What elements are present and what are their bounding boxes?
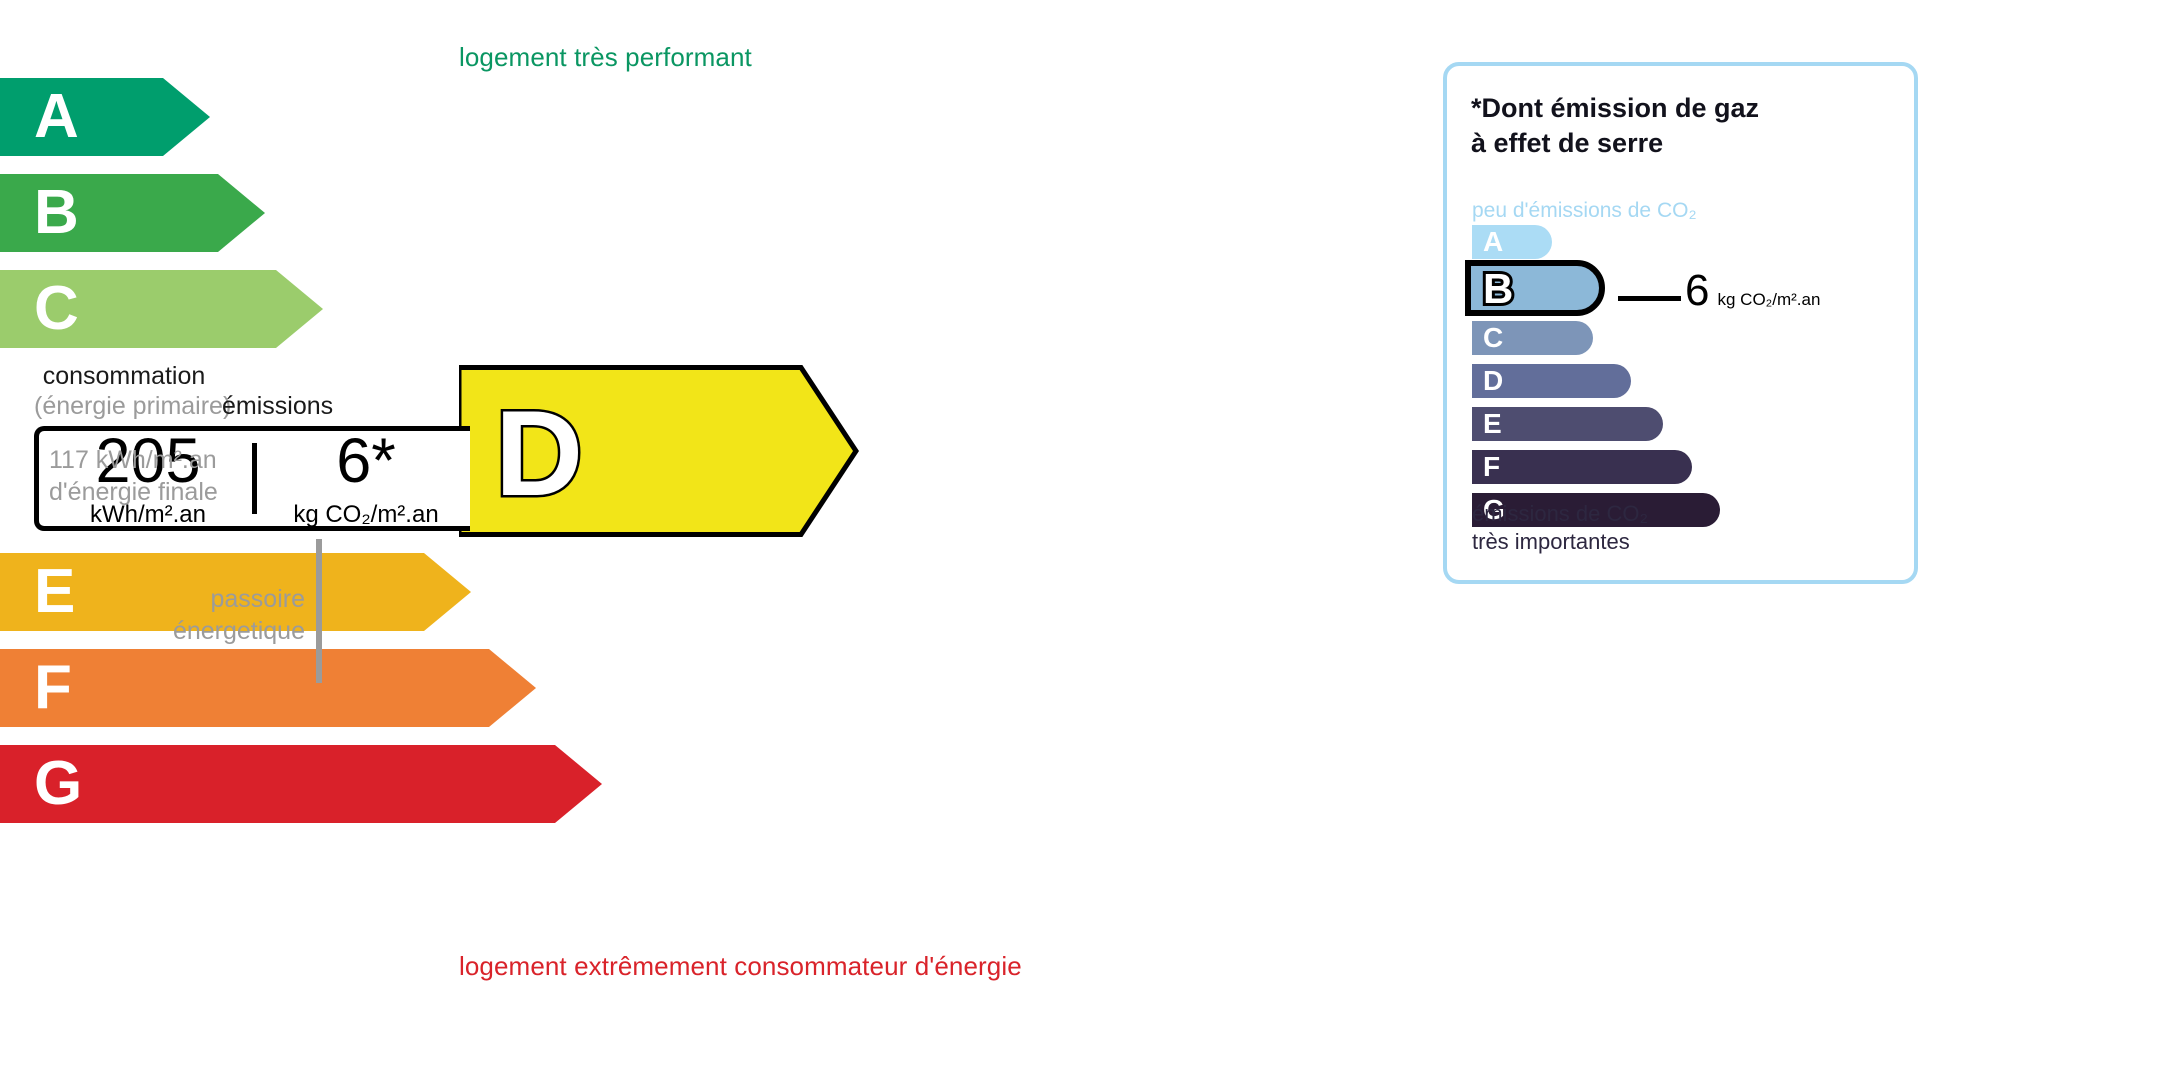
energy-bar-f-tip [489,649,536,727]
passoire-label: passoire énergetique [150,583,305,647]
emission-unit: kg CO₂/m².an [293,503,438,527]
energy-grade-letter-b: B [34,182,79,244]
co2-grade-letter-f: F [1483,453,1500,481]
passoire-line2: énergetique [173,617,305,645]
emission-value-cell: 6* kg CO₂/m².an [257,431,475,526]
co2-grade-letter-a: A [1483,228,1503,256]
energy-performance-panel: logement très performant A B C [0,0,1420,1079]
co2-bar-c: C [1472,321,1593,355]
energy-bar-b-tip [218,174,265,252]
energy-bar-a-body [0,78,163,156]
co2-bar-d: D [1472,364,1631,398]
co2-grade-letter-e: E [1483,410,1502,438]
co2-value-unit: kg CO₂/m².an [1717,291,1820,308]
energy-bar-f-body [0,649,489,727]
co2-bottom-caption-line1: émissions de CO₂ [1472,501,1648,526]
co2-value-callout: 6 kg CO₂/m².an [1685,269,1820,313]
value-box-divider [252,443,257,514]
energy-bar-d-selected: D [459,365,859,537]
energy-bar-c-tip [276,270,323,348]
energy-grade-letter-a: A [34,86,79,148]
co2-bar-f: F [1472,450,1692,484]
consumption-header-line2: (énergie primaire) [34,392,214,422]
dpe-diagram: logement très performant A B C [0,0,2170,1079]
emissions-column-header: émissions [222,392,333,422]
energy-bottom-caption: logement extrêmement consommateur d'éner… [459,951,1022,982]
co2-top-caption: peu d'émissions de CO₂ [1472,199,1697,223]
co2-bar-b-shape: B [1465,260,1607,316]
energy-bar-g: G [0,745,602,823]
energy-top-caption: logement très performant [459,42,752,73]
energy-bar-c: C [0,270,323,348]
passoire-bracket [316,539,322,683]
energy-bar-g-body [0,745,555,823]
co2-bar-a: A [1472,225,1552,259]
final-energy-line1: 117 kWh/m².an [49,446,217,474]
emission-value: 6* [336,430,396,493]
co2-grade-letter-c: C [1483,324,1503,352]
co2-title-line2: à effet de serre [1471,128,1663,158]
energy-grade-letter-d: D [495,385,583,521]
co2-bottom-caption-line2: très importantes [1472,529,1630,554]
energy-grade-letter-c: C [34,278,79,340]
co2-grade-letter-d: D [1483,367,1503,395]
co2-panel-title: *Dont émission de gaz à effet de serre [1471,91,1759,161]
energy-grade-letter-f: F [34,657,72,719]
energy-bar-d-arrow: D [459,365,859,537]
co2-bar-b-selected: B [1465,260,1607,321]
passoire-line1: passoire [211,585,306,613]
co2-emissions-panel: *Dont émission de gaz à effet de serre p… [1443,62,1918,584]
co2-value-number: 6 [1685,269,1709,313]
energy-bar-a: A [0,78,210,156]
energy-bar-e-tip [424,553,471,631]
final-energy-line2: d'énergie finale [49,478,218,506]
co2-callout-line [1618,296,1681,301]
energy-bar-f: F [0,649,536,727]
energy-grade-letter-g: G [34,753,82,815]
co2-grade-letter-b: B [1483,265,1513,312]
energy-grade-letter-e: E [34,561,75,623]
co2-title-line1: *Dont émission de gaz [1471,93,1759,123]
final-energy-note: 117 kWh/m².an d'énergie finale [49,444,218,508]
energy-bar-b-body [0,174,218,252]
energy-bar-b: B [0,174,265,252]
emissions-header-label: émissions [222,392,333,422]
consumption-header-line1: consommation [34,362,214,392]
consumption-column-header: consommation (énergie primaire) [34,362,214,421]
co2-bottom-caption: émissions de CO₂ très importantes [1472,500,1648,556]
energy-bar-a-tip [163,78,210,156]
energy-bar-g-tip [555,745,602,823]
co2-bar-e: E [1472,407,1663,441]
